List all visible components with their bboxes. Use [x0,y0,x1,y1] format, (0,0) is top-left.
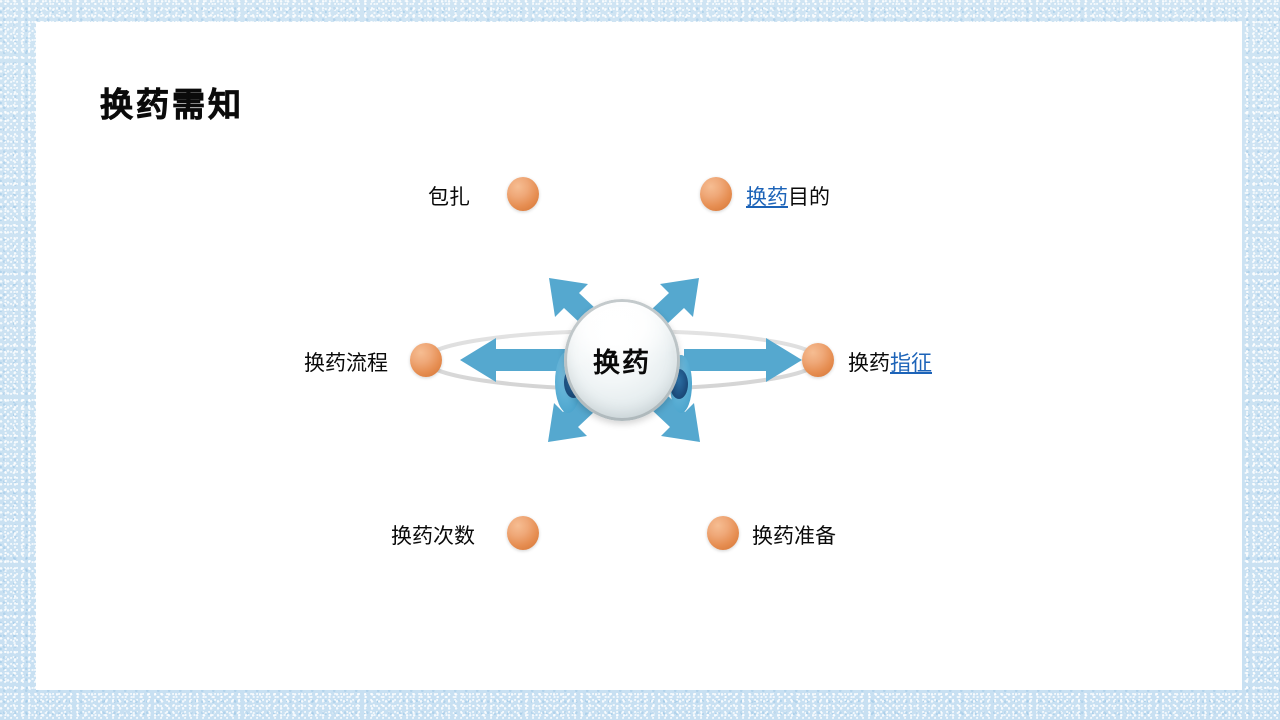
diagram-stage: 换药 包扎 换药目的 换药流程 换药指征 [36,22,1242,690]
node-huanyao-zhunbei[interactable] [707,516,739,550]
slide-background: 换药需知 [0,0,1280,720]
node-baozha[interactable] [507,177,539,211]
label-huanyao-mudi-text: 目的 [788,185,830,209]
label-baozha: 包扎 [428,181,470,211]
arrow-left [460,338,566,382]
link-huanyao[interactable]: 换药 [746,185,788,209]
label-baozha-text: 包扎 [428,185,470,209]
label-huanyao-liucheng: 换药流程 [304,347,388,377]
center-node-label: 换药 [564,299,680,421]
label-huanyao-cishu-text: 换药次数 [391,524,475,548]
node-huanyao-cishu[interactable] [507,516,539,550]
node-huanyao-zhizheng[interactable] [802,343,834,377]
label-huanyao-zhunbei-text: 换药准备 [752,524,836,548]
label-huanyao-zhunbei: 换药准备 [752,520,836,550]
link-zhizheng[interactable]: 指征 [890,351,932,375]
label-huanyao-liucheng-text: 换药流程 [304,351,388,375]
label-huanyao-mudi: 换药目的 [746,181,830,211]
node-huanyao-mudi[interactable] [700,177,732,211]
node-huanyao-liucheng[interactable] [410,343,442,377]
label-huanyao-zhizheng-pre: 换药 [848,351,890,375]
label-huanyao-cishu: 换药次数 [391,520,475,550]
slide-canvas: 换药需知 [36,22,1242,690]
label-huanyao-zhizheng: 换药指征 [848,347,932,377]
